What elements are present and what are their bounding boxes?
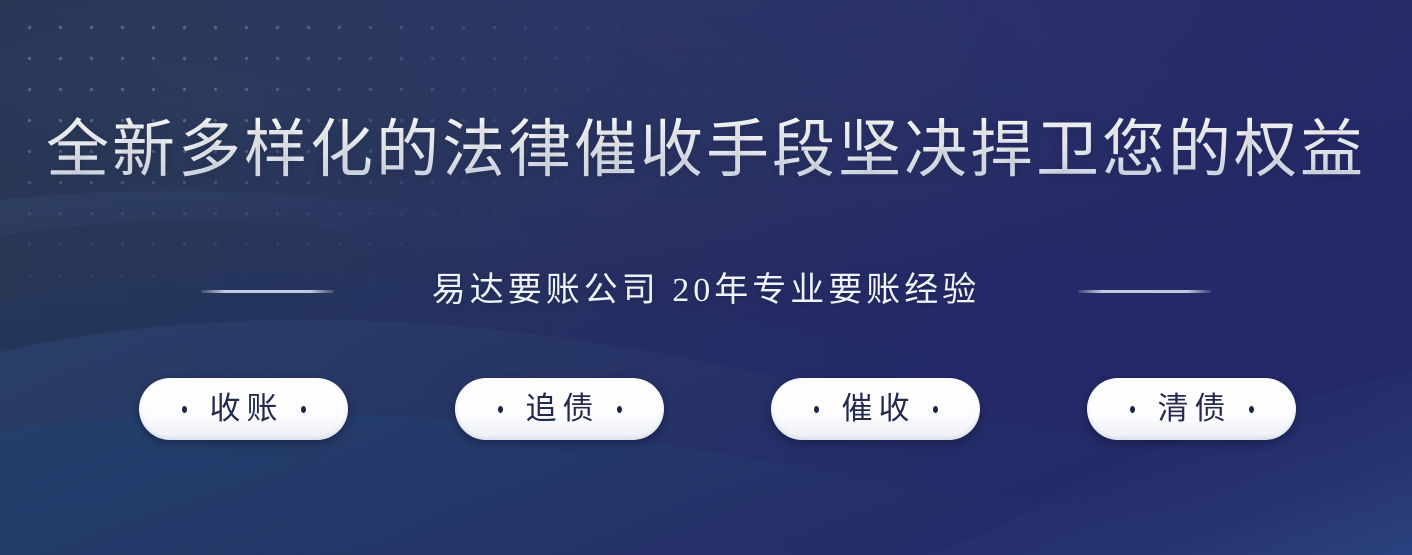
subtitle-row: 易达要账公司 20年专业要账经验 [0,263,1412,319]
bullet-dot-icon [617,406,622,413]
bullet-dot-icon [182,406,187,413]
promo-banner: 全新多样化的法律催收手段坚决捍卫您的权益 易达要账公司 20年专业要账经验 收账… [0,0,1412,555]
service-tag-label: 收账 [204,389,284,429]
service-tag-qingzhai[interactable]: 清债 [1087,378,1296,440]
bullet-dot-icon [1249,406,1254,413]
bullet-dot-icon [933,406,938,413]
page-title: 全新多样化的法律催收手段坚决捍卫您的权益 [0,108,1412,192]
service-tag-zhuizhai[interactable]: 追债 [455,378,664,440]
service-tag-label: 清债 [1152,389,1232,429]
bullet-dot-icon [1130,406,1135,413]
bullet-dot-icon [301,406,306,413]
banner-content: 全新多样化的法律催收手段坚决捍卫您的权益 易达要账公司 20年专业要账经验 收账… [0,0,1412,555]
service-tag-label: 催收 [836,389,916,429]
service-tag-cuishou[interactable]: 催收 [771,378,980,440]
service-tag-list: 收账 追债 催收 清债 [139,378,1296,440]
decorative-line-right [1078,290,1211,293]
service-tag-label: 追债 [520,389,600,429]
bullet-dot-icon [498,406,503,413]
bullet-dot-icon [814,406,819,413]
service-tag-shouzhang[interactable]: 收账 [139,378,348,440]
decorative-line-left [201,290,334,293]
subtitle-text: 易达要账公司 20年专业要账经验 [432,268,981,314]
